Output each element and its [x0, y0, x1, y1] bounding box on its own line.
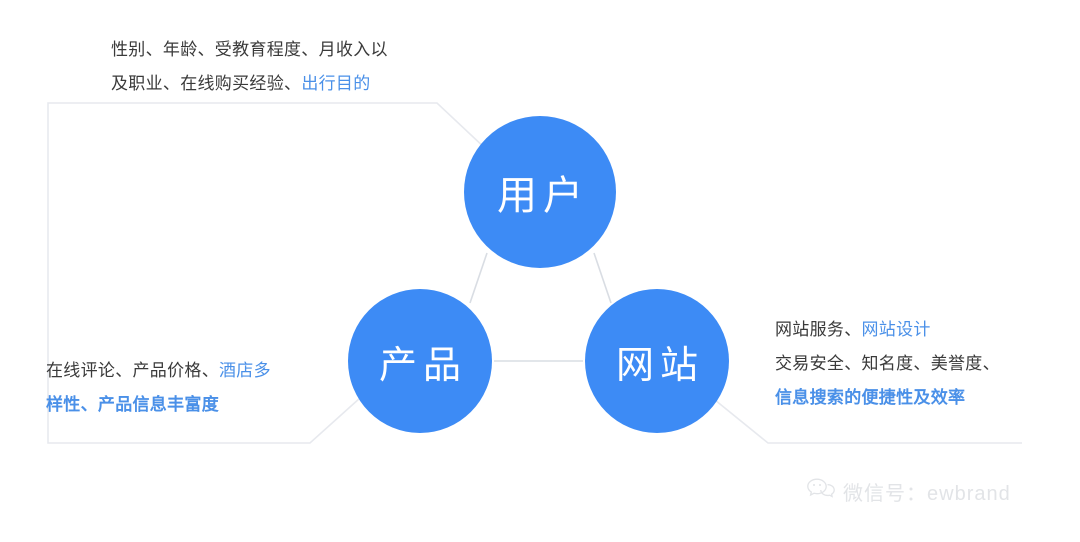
bracket-top-note — [112, 103, 487, 150]
diagram-canvas: 用户 产品 网站 性别、年龄、受教育程度、月收入以 及职业、在线购买经验、出行目… — [0, 0, 1080, 542]
note-segment: 性别、年龄、受教育程度、月收入以 — [111, 40, 388, 59]
connector-user-site — [594, 253, 611, 303]
note-line: 及职业、在线购买经验、出行目的 — [111, 67, 388, 101]
note-segment: 网站服务、 — [775, 320, 862, 339]
node-label-user: 用户 — [491, 163, 589, 221]
connector-user-product — [470, 253, 487, 303]
watermark: 微信号：ewbrand — [806, 476, 1011, 506]
note-site-attributes: 网站服务、网站设计 交易安全、知名度、美誉度、 信息搜索的便捷性及效率 — [775, 313, 1000, 415]
note-segment: 交易安全、知名度、美誉度、 — [775, 354, 1000, 373]
note-segment-accent: 信息搜索的便捷性及效率 — [775, 388, 965, 407]
node-circle-product[interactable]: 产品 — [348, 289, 492, 433]
note-segment: 及职业、在线购买经验、 — [111, 74, 301, 93]
watermark-text: 微信号：ewbrand — [843, 477, 1011, 506]
node-label-site: 网站 — [610, 334, 704, 389]
note-segment-accent: 酒店多 — [219, 361, 271, 380]
note-line: 在线评论、产品价格、酒店多 — [46, 354, 271, 388]
note-line: 信息搜索的便捷性及效率 — [775, 381, 1000, 415]
wechat-logo-icon — [806, 476, 836, 506]
note-segment-accent: 出行目的 — [301, 74, 370, 93]
note-line: 网站服务、网站设计 — [775, 313, 1000, 347]
note-line: 性别、年龄、受教育程度、月收入以 — [111, 33, 388, 67]
note-segment: 在线评论、产品价格、 — [46, 361, 219, 380]
note-product-attributes: 在线评论、产品价格、酒店多 样性、产品信息丰富度 — [46, 354, 271, 422]
note-segment-accent: 网站设计 — [862, 320, 931, 339]
node-circle-site[interactable]: 网站 — [585, 289, 729, 433]
note-line: 交易安全、知名度、美誉度、 — [775, 347, 1000, 381]
node-label-product: 产品 — [373, 334, 467, 389]
note-user-attributes: 性别、年龄、受教育程度、月收入以 及职业、在线购买经验、出行目的 — [111, 33, 388, 101]
node-circle-user[interactable]: 用户 — [464, 116, 616, 268]
note-line: 样性、产品信息丰富度 — [46, 388, 271, 422]
note-segment-accent: 样性、产品信息丰富度 — [46, 395, 219, 414]
